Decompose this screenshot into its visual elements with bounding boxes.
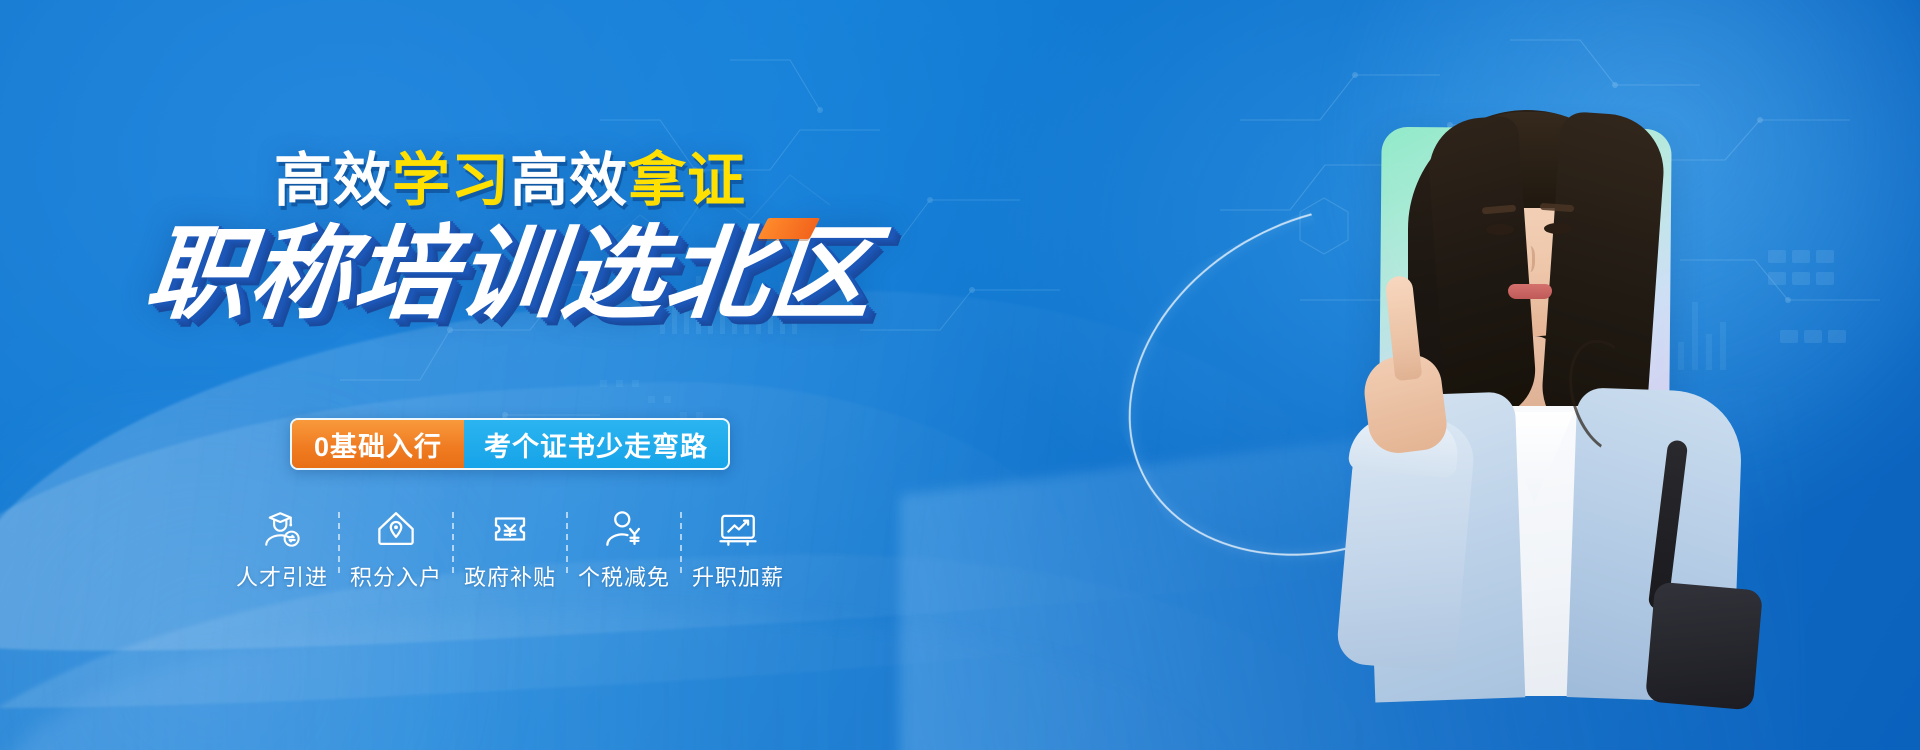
model-photo [1220,88,1780,688]
feature-divider [566,512,568,574]
feature-item-residency[interactable]: 积分入户 [340,508,452,592]
subheadline-part-2: 学习 [392,148,510,213]
feature-label: 个税减免 [578,560,670,592]
promo-banner: 高效学习高效拿证 职称培训选北区 0基础入行 考个证书少走弯路 [0,0,1920,750]
tag-row: 0基础入行 考个证书少走弯路 [0,418,1020,470]
subheadline: 高效学习高效拿证 [0,152,1020,210]
feature-label: 人才引进 [236,560,328,592]
feature-label: 升职加薪 [692,560,784,592]
tag-group[interactable]: 0基础入行 考个证书少走弯路 [290,418,730,470]
tag-secondary[interactable]: 考个证书少走弯路 [464,420,728,468]
person-yuan-icon [603,508,645,550]
feature-item-promotion[interactable]: 升职加薪 [682,508,794,592]
feature-label: 政府补贴 [464,560,556,592]
model-mouth [1508,284,1552,299]
model-eye-right [1544,223,1572,234]
feature-item-tax[interactable]: 个税减免 [568,508,680,592]
subheadline-part-3: 高效 [510,148,628,213]
tag-primary[interactable]: 0基础入行 [292,420,464,468]
hero-content: 高效学习高效拿证 职称培训选北区 0基础入行 考个证书少走弯路 [0,0,1080,750]
house-location-icon [375,508,417,550]
model-nose [1523,246,1535,272]
growth-chart-monitor-icon [717,508,759,550]
subheadline-part-1: 高效 [274,148,392,213]
feature-item-talent[interactable]: 人才引进 [226,508,338,592]
model-bag [1645,582,1763,711]
voucher-ticket-icon [489,508,531,550]
feature-item-subsidy[interactable]: 政府补贴 [454,508,566,592]
main-headline: 职称培训选北区 [141,222,880,326]
headline-wrapper: 职称培训选北区 [0,222,1020,326]
subheadline-part-4: 拿证 [628,148,746,213]
feature-divider [452,512,454,574]
feature-label: 积分入户 [350,560,442,592]
feature-list: 人才引进 积分入户 [0,508,1020,592]
graduate-person-icon [261,508,303,550]
orange-accent-mark [757,218,820,239]
model-portrait-zone [1060,0,1920,750]
feature-divider [338,512,340,574]
feature-divider [680,512,682,574]
model-eye-left [1486,224,1514,235]
